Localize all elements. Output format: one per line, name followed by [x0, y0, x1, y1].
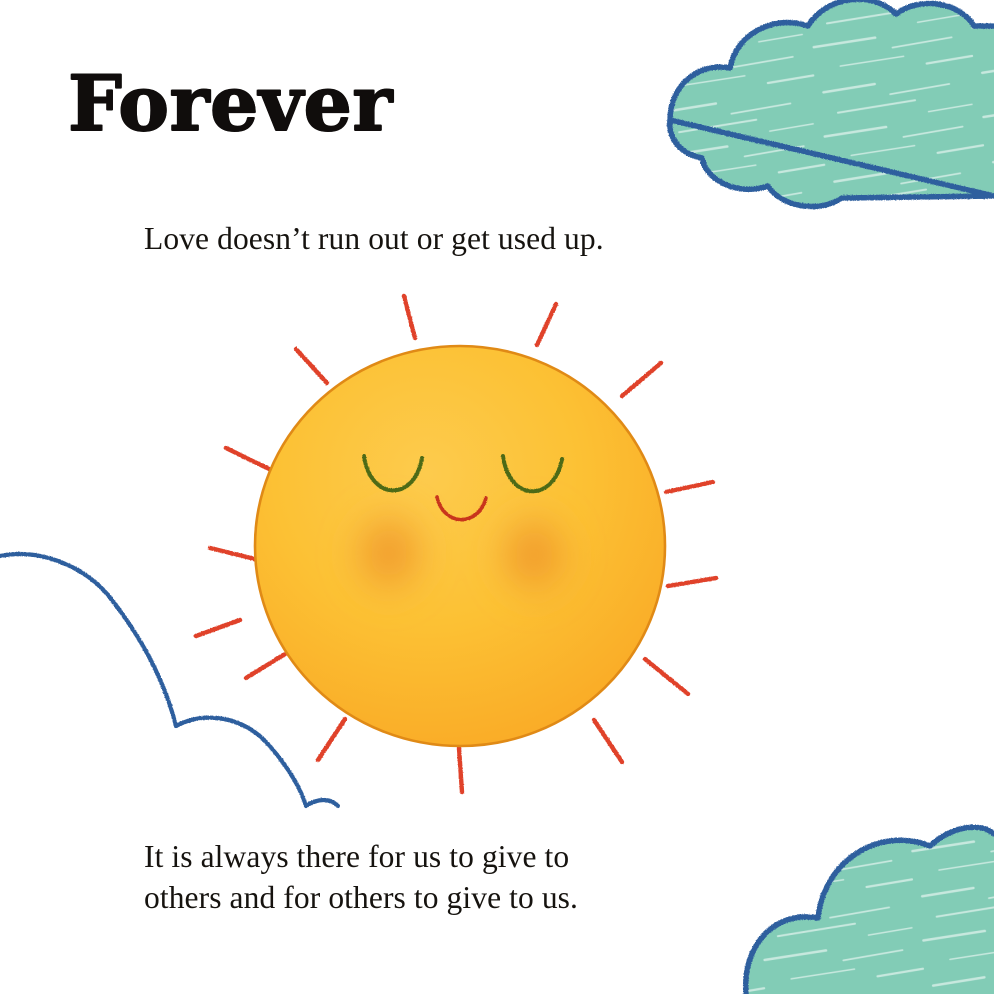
right-eye-closed: [503, 456, 562, 491]
sun-rays: [196, 296, 716, 792]
top-right-cloud: [650, 0, 994, 230]
page-title: Forever: [68, 66, 393, 142]
sun-cheeks: [337, 495, 586, 613]
intro-paragraph: Love doesn’t run out or get used up.: [144, 218, 604, 259]
sun-body: [255, 346, 665, 746]
sun-illustration: [196, 296, 716, 792]
left-eye-closed: [364, 456, 422, 490]
sun-mouth: [437, 497, 486, 520]
sun-eyes: [364, 456, 562, 491]
bottom-right-cloud: [730, 810, 994, 994]
closing-paragraph: It is always there for us to give to oth…: [144, 836, 578, 918]
left-cloud-outline: [0, 554, 338, 806]
storybook-page: Forever Love doesn’t run out or get used…: [0, 0, 994, 994]
